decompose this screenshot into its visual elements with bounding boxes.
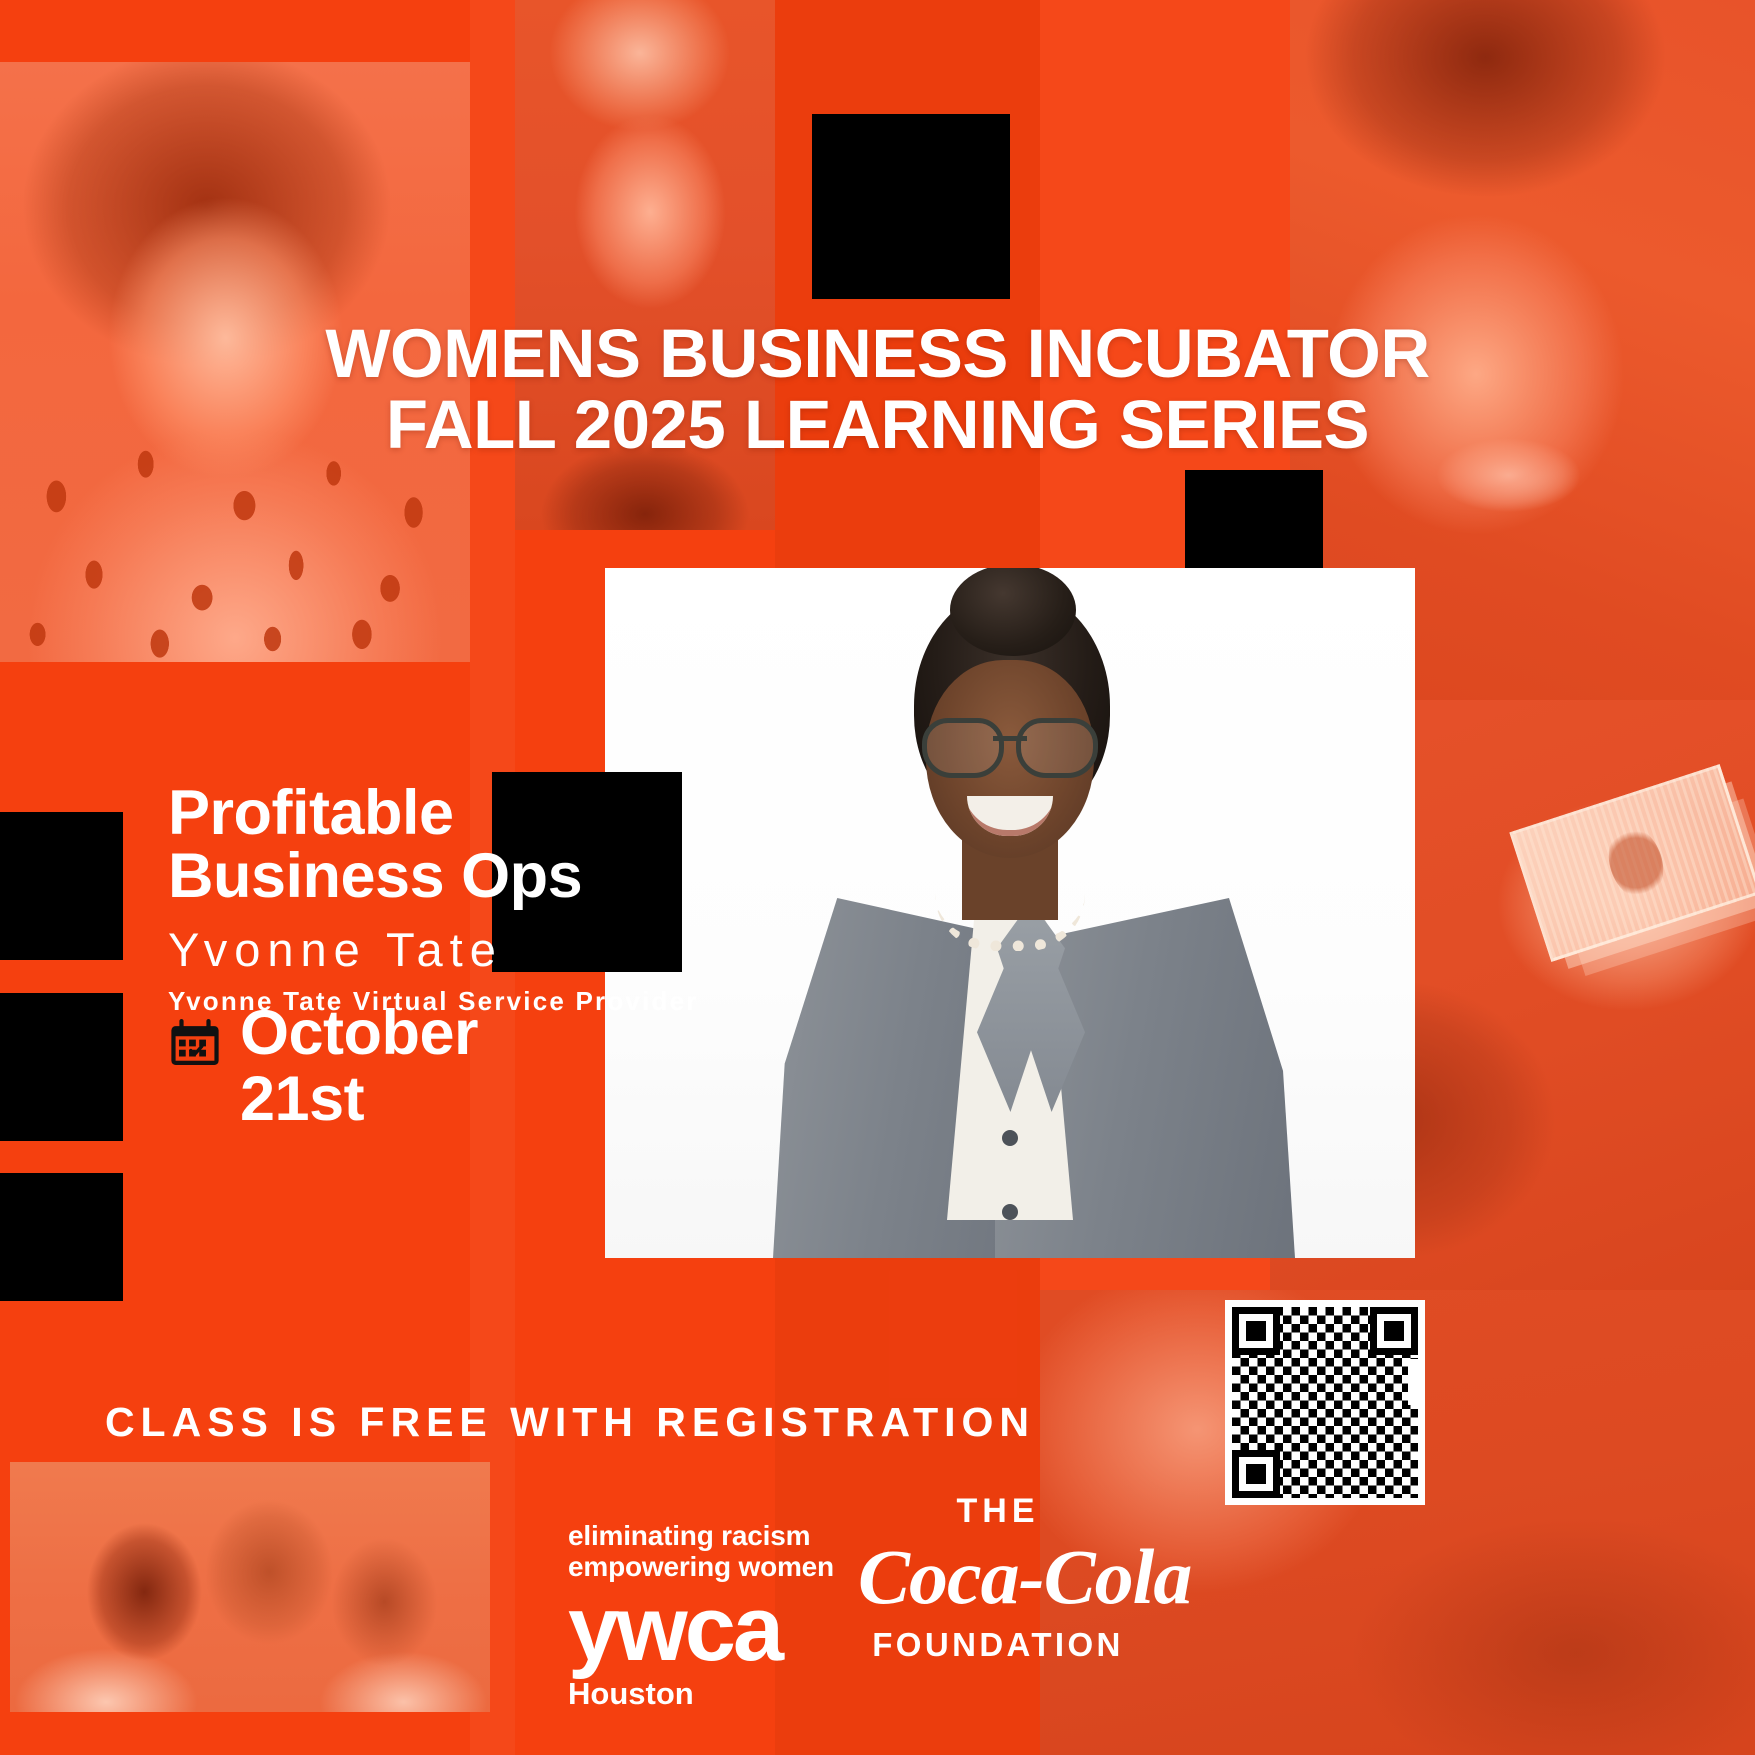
session-title: Profitable Business Ops [168,782,728,908]
event-date-text: October 21st [240,1000,478,1132]
session-block: Profitable Business Ops Yvonne Tate Yvon… [168,782,728,1016]
ywca-wordmark: ywca [568,1585,834,1673]
ywca-tagline-line1: eliminating racism [568,1520,834,1551]
qr-finder-top-left [1232,1307,1280,1355]
ywca-city: Houston [568,1677,834,1712]
ywca-logo: eliminating racism empowering women ywca… [568,1520,834,1712]
event-date: October 21st [168,1000,568,1132]
accent-bar-left-1 [0,812,123,960]
qr-code[interactable] [1225,1300,1425,1505]
event-flyer: WOMENS BUSINESS INCUBATOR FALL 2025 LEAR… [0,0,1755,1755]
collage-photo-three-women [10,1462,490,1712]
registration-note: CLASS IS FREE WITH REGISTRATION [0,1399,1140,1446]
coke-the-label: THE [858,1492,1138,1531]
coke-wordmark: Coca-Cola [858,1533,1138,1620]
accent-bar-left-2 [0,993,123,1141]
qr-finder-bottom-left [1232,1450,1280,1498]
eyeglasses-icon [922,718,1098,768]
qr-finder-top-right [1370,1307,1418,1355]
coca-cola-foundation-logo: THE Coca-Cola FOUNDATION [858,1492,1138,1664]
coke-foundation-label: FOUNDATION [858,1626,1138,1664]
calendar-icon [168,1016,222,1070]
speaker-name: Yvonne Tate [168,926,728,973]
accent-square-top [812,114,1010,299]
page-title: WOMENS BUSINESS INCUBATOR FALL 2025 LEAR… [0,318,1755,460]
accent-bar-left-3 [0,1173,123,1301]
